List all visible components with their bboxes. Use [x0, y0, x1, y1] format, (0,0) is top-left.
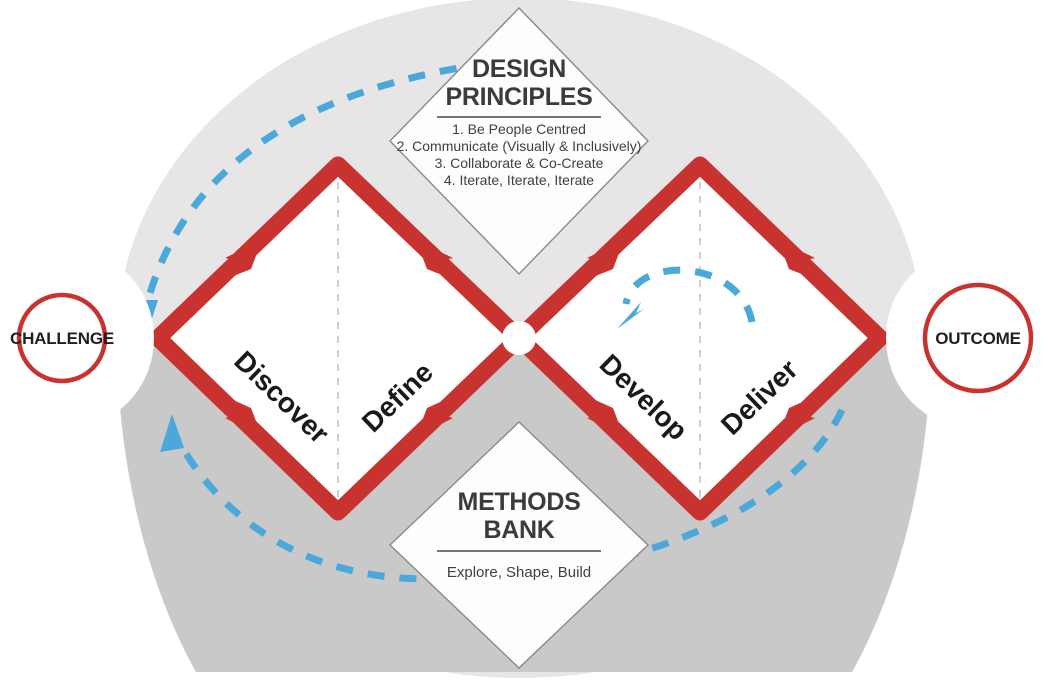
diagram-canvas: Discover Define Develop Deliver DESIGN P…: [0, 0, 1048, 686]
design-principles-title-line-2: PRINCIPLES: [445, 83, 592, 111]
methods-bank-subtitle: Explore, Shape, Build: [447, 564, 591, 581]
outcome-label: OUTCOME: [935, 329, 1020, 348]
junction-node: [502, 321, 536, 355]
design-principles-item-3: 3. Collaborate & Co-Create: [435, 155, 604, 171]
design-principles-item-1: 1. Be People Centred: [452, 121, 586, 137]
double-diamond-diagram: Discover Define Develop Deliver DESIGN P…: [0, 0, 1048, 686]
design-principles-item-4: 4. Iterate, Iterate, Iterate: [444, 172, 594, 188]
challenge-label: CHALLENGE: [10, 329, 114, 348]
design-principles-title-line-1: DESIGN: [472, 55, 566, 83]
methods-bank-title-line-2: BANK: [483, 516, 554, 544]
design-principles-item-2: 2. Communicate (Visually & Inclusively): [397, 138, 642, 154]
methods-bank-title-line-1: METHODS: [458, 488, 581, 516]
